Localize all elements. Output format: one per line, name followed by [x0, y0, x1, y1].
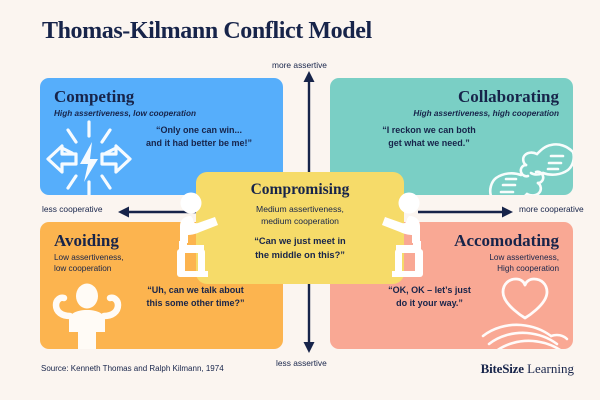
bitesize-learning-logo: BiteSize Learning [481, 361, 574, 377]
seated-person-right-icon [374, 191, 426, 282]
quadrant-compromising-heading: Compromising [196, 181, 404, 198]
quadrant-collaborating-quote: “I reckon we can both get what we need.” [354, 124, 504, 150]
axis-label-less-cooperative: less cooperative [42, 204, 103, 214]
quadrant-collaborating-subtitle: High assertiveness, high cooperation [344, 108, 559, 119]
quadrant-compromising-subtitle: Medium assertiveness, medium cooperation [196, 203, 404, 227]
axis-label-more-cooperative: more cooperative [519, 204, 584, 214]
quadrant-competing-quote: “Only one can win... and it had better b… [124, 124, 274, 150]
seated-person-left-icon [174, 191, 226, 282]
quadrant-competing-heading: Competing [54, 87, 269, 107]
axis-label-less-assertive: less assertive [276, 358, 327, 368]
horizontal-axis-arrow-right-icon [418, 205, 513, 223]
logo-bold-text: BiteSize [481, 361, 524, 376]
quadrant-compromising-quote: “Can we just meet in the middle on this?… [196, 235, 404, 262]
quadrant-compromising[interactable]: Compromising Medium assertiveness, mediu… [196, 172, 404, 284]
quadrant-accomodating-quote: “OK, OK – let’s just do it your way.” [352, 284, 507, 310]
logo-light-text: Learning [524, 361, 574, 376]
infographic-canvas: Thomas-Kilmann Conflict Model more asser… [0, 0, 600, 400]
quadrant-competing-subtitle: High assertiveness, low cooperation [54, 108, 269, 119]
axis-label-more-assertive: more assertive [272, 60, 327, 70]
page-title: Thomas-Kilmann Conflict Model [42, 18, 372, 45]
quadrant-avoiding-quote: “Uh, can we talk about this some other t… [118, 284, 273, 310]
source-citation: Source: Kenneth Thomas and Ralph Kilmann… [41, 364, 224, 373]
quadrant-collaborating-heading: Collaborating [344, 87, 559, 107]
